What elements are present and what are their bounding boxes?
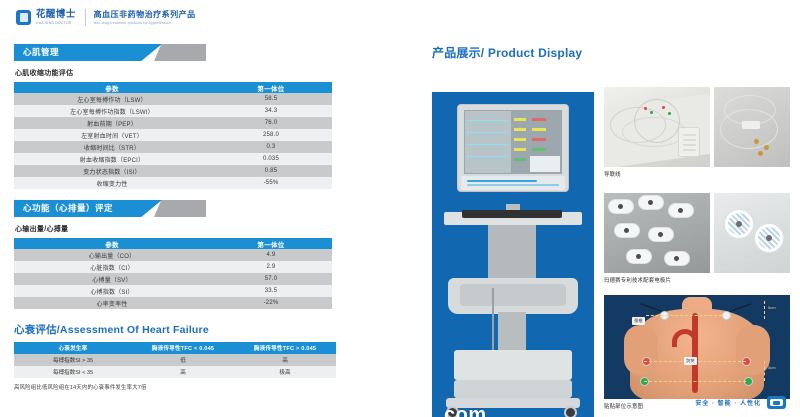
screen-value-label: [514, 138, 526, 141]
myocardial-parameters-table: 参数 第一体位 左心室每搏作功（LSW） 58.5 左心室每搏作功指数（LSWI…: [14, 82, 332, 189]
keyboard: [462, 210, 562, 218]
guide-line: [646, 315, 722, 316]
guide-line: [644, 381, 746, 382]
electrode-snap: [736, 221, 742, 227]
cell-parameter: 变力状态指数（ISI）: [14, 165, 210, 177]
anatomy-shoulder-left: [624, 325, 658, 375]
caption-electrodes: 玛德赛专利技术配套电极片: [604, 273, 790, 284]
control-box-line: [683, 149, 696, 151]
section-cardiac-output: 心功能（心排量）评定 心输出量/心搏量 参数 第一体位 心输出量（CO） 4.9…: [14, 200, 344, 309]
column-header-value: 第一体位: [210, 238, 332, 249]
cell-parameter: 心脏指数（CI）: [14, 261, 210, 273]
banner-grey-shape: [154, 200, 206, 217]
cell-value: 0.3: [210, 141, 332, 153]
brand-divider: [85, 9, 86, 26]
brand-tagline-en: Non drug treatment products for hyperten…: [94, 21, 196, 25]
heart-failure-title: 心衰评估/Assessment Of Heart Failure: [14, 322, 344, 337]
measurement-top: 5cm: [768, 305, 776, 310]
product-display-title-en: Product Display: [488, 46, 582, 60]
footer-slogan: 安全 · 智能 · 人性化: [695, 398, 761, 407]
table-row: 收缩时间比（STR） 0.3: [14, 141, 332, 153]
cell-parameter: 心搏指数（SI）: [14, 285, 210, 297]
cable-loop: [720, 109, 778, 149]
column-header-incidence: 心衰发生率: [14, 342, 132, 354]
column-header-parameter: 参数: [14, 238, 210, 249]
electrode-closeup-photo: [714, 193, 790, 273]
cell-value: 2.9: [210, 261, 332, 273]
waveform-line: [467, 156, 507, 157]
section-header-banner: 心功能（心排量）评定: [14, 200, 206, 217]
measure-line-top: [764, 301, 765, 319]
table-row: 左室射血时间（VET） 258.0: [14, 129, 332, 141]
screen-value-label: [514, 128, 526, 131]
cell-si-range: 每搏指数SI > 35: [14, 354, 132, 366]
section-subtitle: 心输出量/心搏量: [15, 224, 344, 234]
heart-failure-note: 高风险组比低风险组在14天内的心衰事件发生率大7倍: [14, 383, 344, 391]
monitor-illustration: [457, 104, 569, 204]
cell-risk-low-tfc: 高: [132, 366, 234, 378]
gold-contact: [764, 145, 769, 150]
cart-drawer: [454, 350, 572, 380]
measure-line-bottom: [764, 361, 765, 381]
table-row: 心搏量（SV） 57.0: [14, 273, 332, 285]
electrode-snap: [766, 235, 772, 241]
heart-failure-table: 心衰发生率 胸液传导性TFC < 0.045 胸液传导性TFC > 0.045 …: [14, 342, 336, 378]
cell-parameter: 左心室每搏作功（LSW）: [14, 93, 210, 105]
table-header-row: 参数 第一体位: [14, 238, 332, 249]
control-box-line: [683, 144, 696, 146]
electrode-snap: [618, 204, 623, 209]
screen-value-label: [532, 128, 546, 131]
control-box-line: [683, 134, 696, 136]
cell-value: 34.3: [210, 105, 332, 117]
electrode-snap: [648, 200, 653, 205]
electrode-placement-diagram: 颈根 剑突 5cm 5cm: [604, 295, 790, 399]
footer-logo-icon: [767, 396, 786, 409]
table-row: 每搏指数SI < 35 高 极高: [14, 366, 336, 378]
cell-parameter: 心率变率性: [14, 297, 210, 309]
product-row-electrodes: 玛德赛专利技术配套电极片: [604, 193, 790, 284]
cell-value: 76.0: [210, 117, 332, 129]
waveform-line: [467, 144, 507, 145]
cell-parameter: 左心室每搏作功指数（LSWI）: [14, 105, 210, 117]
screen-value-label: [532, 148, 546, 151]
cell-risk-high-tfc: 极高: [234, 366, 336, 378]
cell-si-range: 每搏指数SI < 35: [14, 366, 132, 378]
electrode-snap: [678, 208, 683, 213]
monitor-screen: [464, 110, 562, 174]
column-header-tfc-high: 胸液传导性TFC > 0.045: [234, 342, 336, 354]
table-header-row: 参数 第一体位: [14, 82, 332, 93]
electrode-snap: [658, 232, 663, 237]
product-display-column: 产品展示/ Product Display: [432, 44, 790, 416]
section-myocardial-management: 心肌管理 心肌收缩功能评估 参数 第一体位 左心室每搏作功（LSW） 58.5 …: [14, 44, 344, 189]
monitor-base-panel: [461, 176, 565, 190]
heart-failure-title-en: Assessment Of Heart Failure: [60, 324, 209, 336]
lead-wire-line: [640, 303, 661, 311]
electrode-snap: [636, 254, 641, 259]
table-row: 左心室每搏作功指数（LSWI） 34.3: [14, 105, 332, 117]
cell-value: 0.85: [210, 165, 332, 177]
control-box-line: [683, 139, 696, 141]
table-header-row: 心衰发生率 胸液传导性TFC < 0.045 胸液传导性TFC > 0.045: [14, 342, 336, 354]
product-row-placement-diagram: 颈根 剑突 5cm 5cm 贴贴部位示意图: [604, 295, 790, 410]
column-header-tfc-low: 胸液传导性TFC < 0.045: [132, 342, 234, 354]
left-content-column: 心肌管理 心肌收缩功能评估 参数 第一体位 左心室每搏作功（LSW） 58.5 …: [14, 44, 344, 391]
lead-wire-closeup-photo: [714, 87, 790, 167]
product-row-lead-wires: 导联线: [604, 87, 790, 178]
cell-value: -55%: [210, 177, 332, 189]
gold-contact: [754, 139, 759, 144]
watermark-text: com: [444, 404, 487, 417]
table-row: 射血收缩指数（EPCI） 0.035: [14, 153, 332, 165]
cart-basin-inner: [460, 284, 566, 306]
banner-grey-shape: [154, 44, 206, 61]
cell-risk-high-tfc: 高: [234, 354, 336, 366]
section-header-banner: 心肌管理: [14, 44, 206, 61]
cart-wheel: [564, 406, 577, 417]
cell-parameter: 心输出量（CO）: [14, 249, 210, 261]
measurement-bottom: 5cm: [768, 365, 776, 370]
cell-value: 0.035: [210, 153, 332, 165]
electrode-snap: [624, 228, 629, 233]
electrode-marker: [722, 311, 731, 320]
table-row: 心脏指数（CI） 2.9: [14, 261, 332, 273]
screen-value-label: [514, 158, 526, 161]
connector-dot-green: [668, 112, 671, 115]
cell-value: 57.0: [210, 273, 332, 285]
section-header-label: 心功能（心排量）评定: [23, 200, 113, 217]
monitor-accent-stripe: [467, 180, 537, 182]
brand-header: 花醒博士 HUA XING DOCTOR 高血压非药物治疗系列产品 Non dr…: [0, 0, 800, 34]
device-photo: com: [432, 92, 594, 417]
product-display-title: 产品展示/ Product Display: [432, 44, 790, 61]
lead-wire-line: [730, 303, 751, 311]
cardiac-output-table: 参数 第一体位 心输出量（CO） 4.9 心脏指数（CI） 2.9 心搏量（SV…: [14, 238, 332, 309]
cart-drawer-lower: [454, 380, 572, 398]
section-subtitle: 心肌收缩功能评估: [15, 68, 344, 78]
column-header-value: 第一体位: [210, 82, 332, 93]
waveform-line: [467, 132, 507, 133]
electrode-tray-photo: [604, 193, 710, 273]
label-neck: 颈根: [632, 317, 645, 325]
cell-parameter: 心搏量（SV）: [14, 273, 210, 285]
lead-wire-photo: [604, 87, 710, 167]
caption-lead-wires: 导联线: [604, 167, 790, 178]
cell-parameter: 收缩变力性: [14, 177, 210, 189]
company-logo-icon: [16, 10, 31, 25]
column-header-parameter: 参数: [14, 82, 210, 93]
cell-value: 258.0: [210, 129, 332, 141]
table-row: 每搏指数SI > 35 低 高: [14, 354, 336, 366]
inline-connector: [742, 121, 760, 129]
label-chest: 剑突: [684, 357, 697, 365]
connector-dot-red: [644, 107, 647, 110]
screen-value-label: [532, 118, 546, 121]
cell-value: -22%: [210, 297, 332, 309]
brand-name-en: HUA XING DOCTOR: [36, 21, 76, 25]
cable-loop: [634, 99, 680, 143]
waveform-line: [467, 120, 507, 121]
brand-tagline-cn: 高血压非药物治疗系列产品: [94, 10, 196, 20]
cell-parameter: 左室射血时间（VET）: [14, 129, 210, 141]
screen-value-label: [514, 118, 526, 121]
brand-name-cn: 花醒博士: [36, 10, 76, 20]
cell-parameter: 射血前期（PEP）: [14, 117, 210, 129]
heart-failure-title-cn: 心衰评估/: [14, 324, 60, 336]
lead-wire-control-box: [678, 127, 700, 157]
product-display-title-cn: 产品展示/: [432, 46, 484, 60]
section-heart-failure: 心衰评估/Assessment Of Heart Failure 心衰发生率 胸…: [14, 322, 344, 391]
cell-value: 58.5: [210, 93, 332, 105]
cell-risk-low-tfc: 低: [132, 354, 234, 366]
table-row: 变力状态指数（ISI） 0.85: [14, 165, 332, 177]
table-row: 心率变率性 -22%: [14, 297, 332, 309]
cell-parameter: 射血收缩指数（EPCI）: [14, 153, 210, 165]
section-header-label: 心肌管理: [23, 44, 59, 61]
screen-data-box: [530, 156, 560, 172]
gold-contact: [758, 151, 763, 156]
table-row: 心输出量（CO） 4.9: [14, 249, 332, 261]
table-row: 心搏指数（SI） 33.5: [14, 285, 332, 297]
cell-value: 33.5: [210, 285, 332, 297]
connector-dot-red: [662, 106, 665, 109]
screen-value-label: [532, 138, 546, 141]
cell-parameter: 收缩时间比（STR）: [14, 141, 210, 153]
page-footer: 安全 · 智能 · 人性化: [695, 396, 786, 409]
screen-value-label: [514, 148, 526, 151]
connector-dot-green: [650, 111, 653, 114]
monitor-accent-stripe: [467, 184, 559, 186]
electrode-snap: [674, 256, 679, 261]
table-row: 射血前期（PEP） 76.0: [14, 117, 332, 129]
table-row: 收缩变力性 -55%: [14, 177, 332, 189]
table-row: 左心室每搏作功（LSW） 58.5: [14, 93, 332, 105]
cell-value: 4.9: [210, 249, 332, 261]
